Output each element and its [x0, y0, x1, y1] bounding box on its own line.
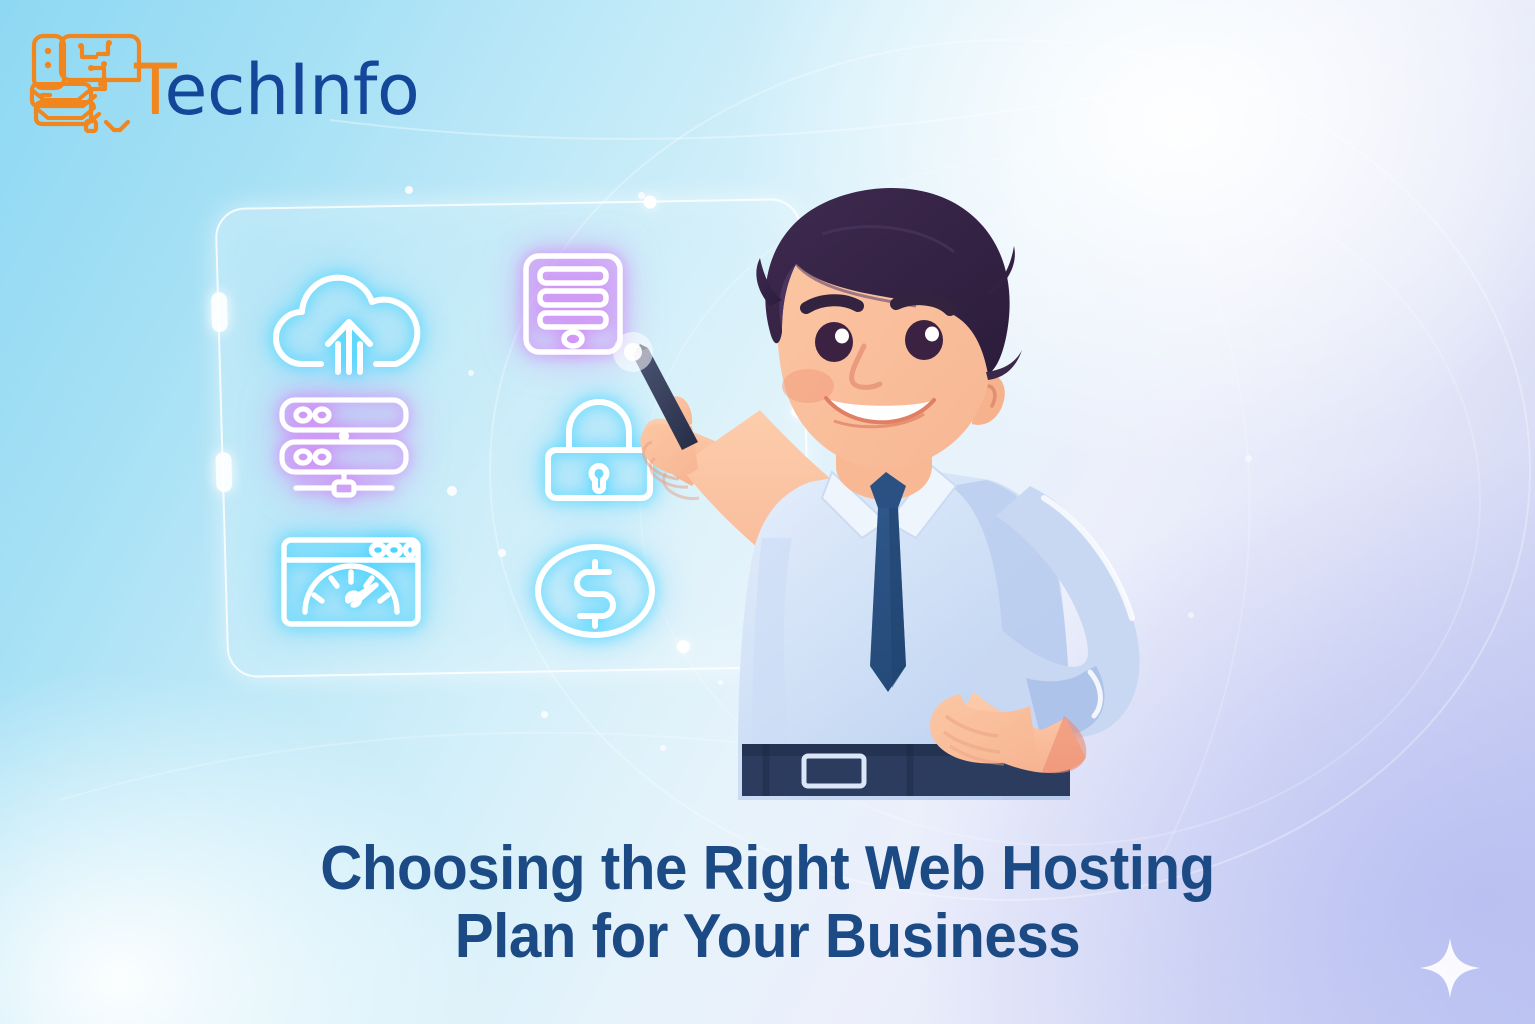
brand-logo[interactable]: TechInfo	[22, 24, 419, 142]
panel-handle-top[interactable]	[211, 292, 228, 332]
brand-name-accent: T	[134, 49, 164, 131]
brand-name: TechInfo	[134, 55, 419, 125]
icon-server-rack[interactable]	[272, 394, 416, 503]
icon-cloud-upload[interactable]	[268, 272, 430, 389]
panel-handle-bottom[interactable]	[215, 452, 232, 492]
page-title-line-1: Choosing the Right Web Hosting	[46, 835, 1489, 903]
cloud-upload-icon	[268, 272, 430, 384]
server-rack-icon	[272, 394, 416, 498]
businessman-illustration	[430, 186, 1290, 846]
icon-speed-gauge[interactable]	[277, 534, 425, 635]
four-point-star-icon	[1418, 936, 1482, 1000]
page-title-line-2: Plan for Your Business	[46, 903, 1489, 971]
brand-name-rest: echInfo	[164, 49, 419, 131]
particle-dot	[405, 186, 413, 194]
books-circuit-icon	[22, 24, 150, 142]
hero-banner: TechInfo	[0, 0, 1535, 1024]
page-title: Choosing the Right Web Hosting Plan for …	[46, 835, 1489, 971]
speed-gauge-icon	[277, 534, 425, 630]
